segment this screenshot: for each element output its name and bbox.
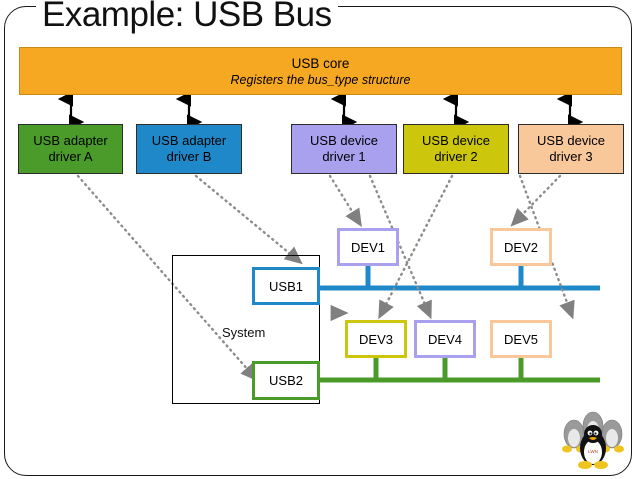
device-label: DEV2 xyxy=(504,240,538,255)
driver-label-line2: driver 3 xyxy=(549,149,592,165)
svg-text:LWN: LWN xyxy=(588,449,598,454)
usb-core-title: USB core xyxy=(292,55,350,72)
usb-controller-usb2[interactable]: USB2 xyxy=(252,361,320,400)
tux-penguin-logo: LWN xyxy=(560,404,630,474)
driver-label-line1: USB device xyxy=(310,133,378,149)
driver-label-line1: USB adapter xyxy=(33,133,107,149)
device-box-dev3[interactable]: DEV3 xyxy=(345,320,407,358)
device-box-dev2[interactable]: DEV2 xyxy=(490,228,552,266)
system-label: System xyxy=(222,325,265,340)
driver-box-adapter-a[interactable]: USB adapter driver A xyxy=(18,124,123,174)
driver-label-line1: USB device xyxy=(537,133,605,149)
device-label: DEV5 xyxy=(504,332,538,347)
device-label: DEV4 xyxy=(428,332,462,347)
usb-core-box: USB core Registers the bus_type structur… xyxy=(19,47,622,95)
driver-label-line2: driver A xyxy=(48,149,92,165)
driver-label-line1: USB device xyxy=(422,133,490,149)
device-box-dev5[interactable]: DEV5 xyxy=(490,320,552,358)
driver-box-device-2[interactable]: USB device driver 2 xyxy=(403,124,509,174)
device-label: DEV3 xyxy=(359,332,393,347)
usb-controller-usb1[interactable]: USB1 xyxy=(252,267,320,305)
device-box-dev4[interactable]: DEV4 xyxy=(414,320,476,358)
driver-label-line2: driver 2 xyxy=(434,149,477,165)
device-box-dev1[interactable]: DEV1 xyxy=(337,228,399,266)
driver-box-device-1[interactable]: USB device driver 1 xyxy=(291,124,397,174)
driver-label-line2: driver 1 xyxy=(322,149,365,165)
usb-core-subtitle: Registers the bus_type structure xyxy=(231,72,411,88)
usb-controller-label: USB2 xyxy=(269,373,303,388)
driver-label-line1: USB adapter xyxy=(152,133,226,149)
driver-box-device-3[interactable]: USB device driver 3 xyxy=(518,124,624,174)
device-label: DEV1 xyxy=(351,240,385,255)
usb-controller-label: USB1 xyxy=(269,279,303,294)
driver-box-adapter-b[interactable]: USB adapter driver B xyxy=(136,124,242,174)
driver-label-line2: driver B xyxy=(167,149,212,165)
